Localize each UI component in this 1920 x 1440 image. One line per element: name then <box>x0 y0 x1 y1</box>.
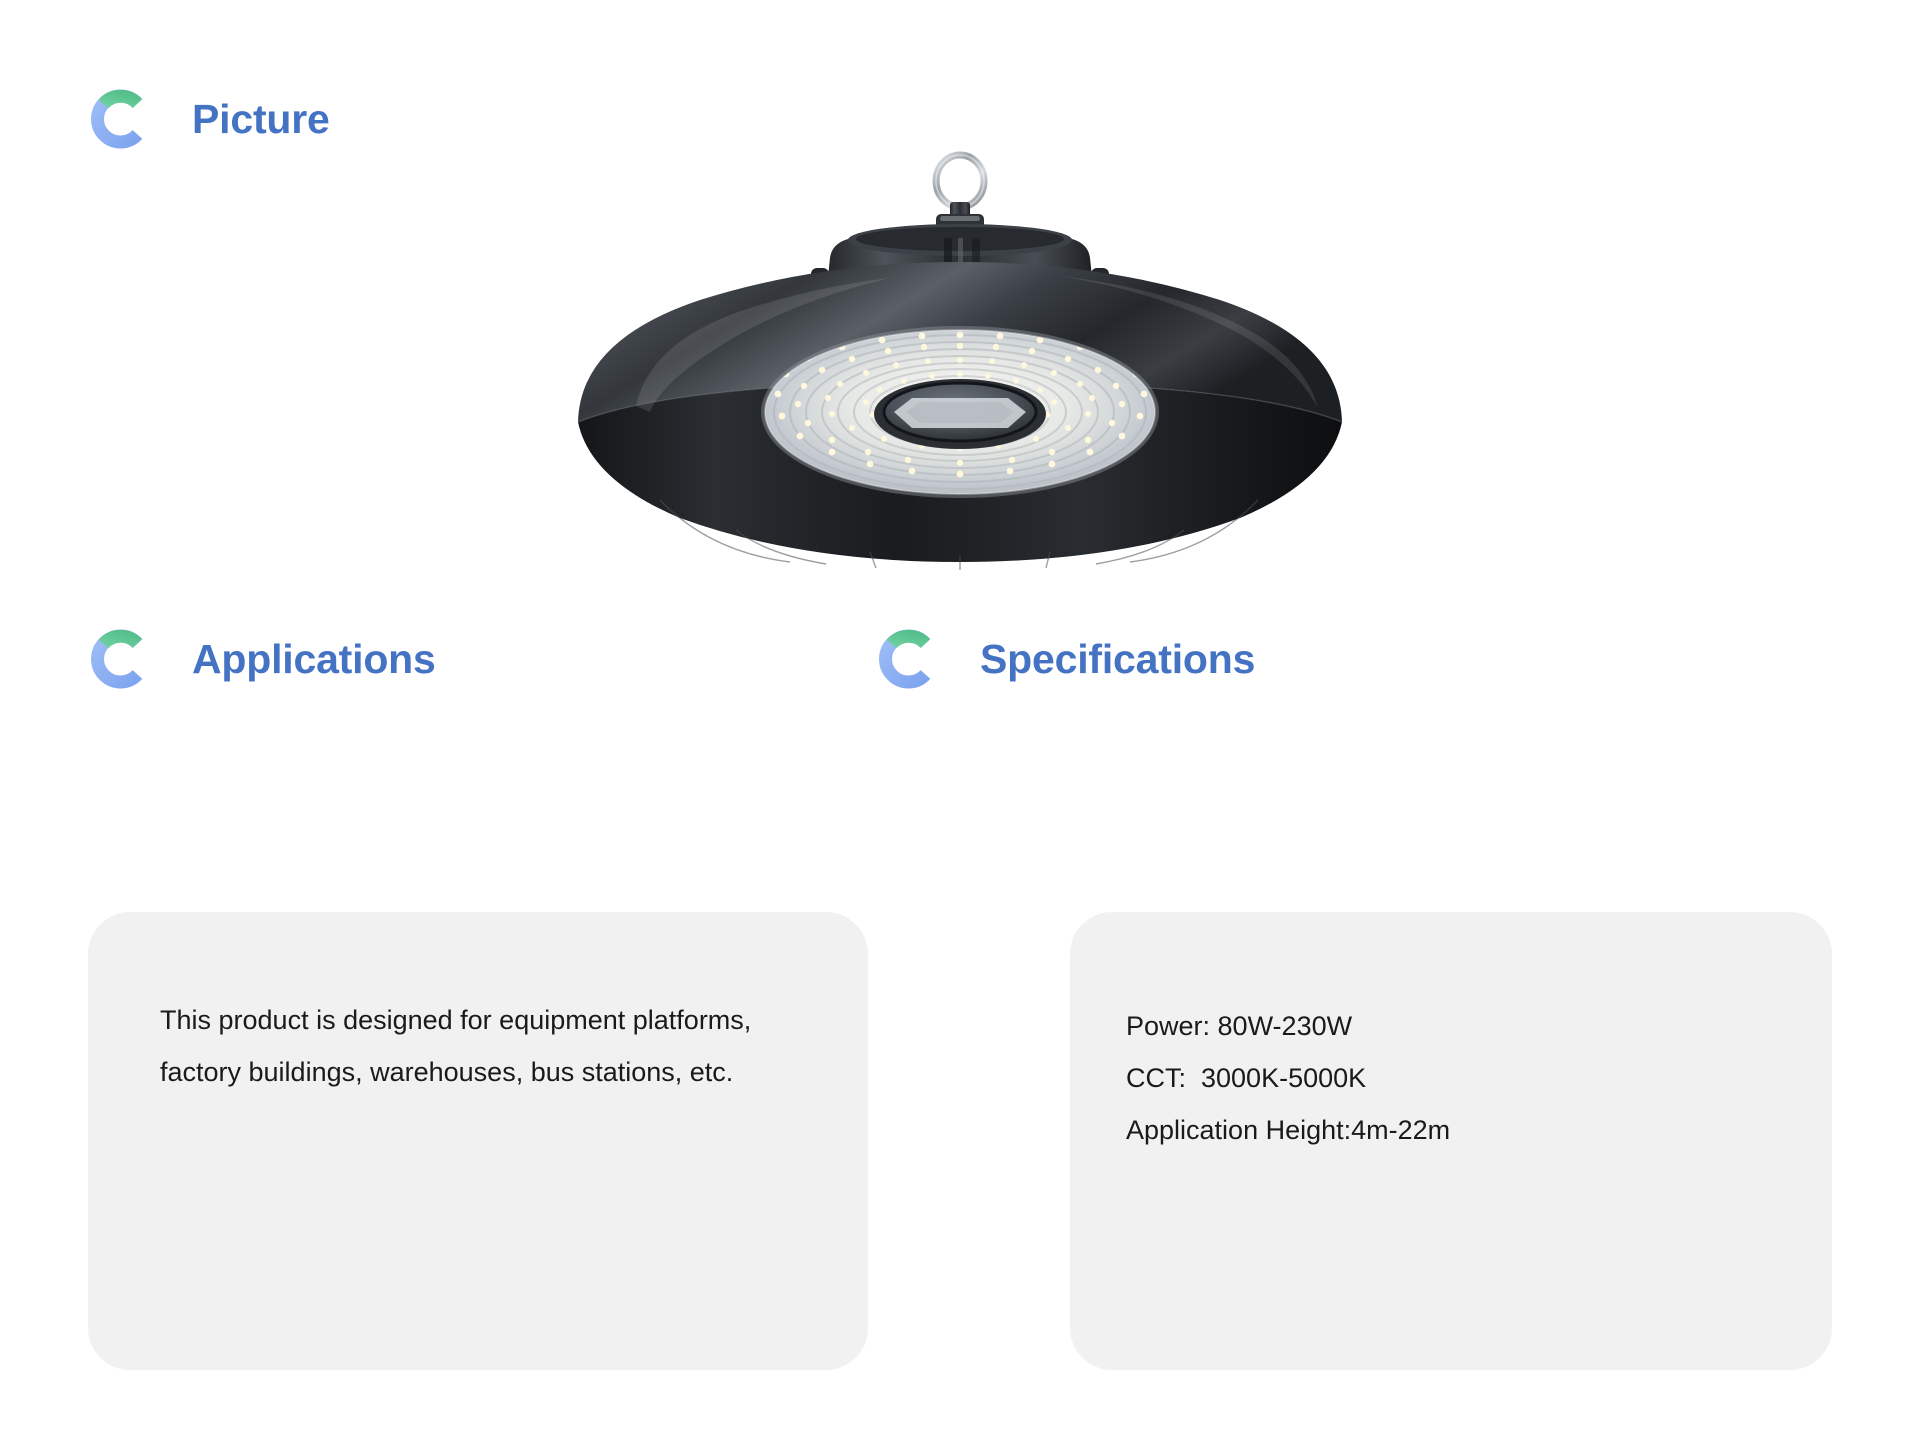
section-header-specifications: Specifications <box>876 628 1255 690</box>
led-high-bay-light-image <box>540 150 1380 570</box>
page-title-picture: Picture <box>192 96 330 143</box>
page-title-specifications: Specifications <box>980 636 1255 683</box>
brand-c-icon <box>876 628 938 690</box>
product-image-container <box>540 150 1380 570</box>
page-title-applications: Applications <box>192 636 436 683</box>
applications-card: This product is designed for equipment p… <box>88 912 868 1370</box>
center-hub <box>874 379 1046 449</box>
hook-ring <box>936 155 984 218</box>
section-header-picture: Picture <box>88 88 330 150</box>
specifications-card: Power: 80W-230W CCT: 3000K-5000K Applica… <box>1070 912 1832 1370</box>
brand-c-icon <box>88 628 150 690</box>
brand-c-icon <box>88 88 150 150</box>
spec-line-power: Power: 80W-230W <box>1126 1000 1784 1052</box>
spec-line-height: Application Height:4m-22m <box>1126 1104 1784 1156</box>
spec-line-cct: CCT: 3000K-5000K <box>1126 1052 1784 1104</box>
section-header-applications: Applications <box>88 628 436 690</box>
applications-body-text: This product is designed for equipment p… <box>160 994 820 1098</box>
